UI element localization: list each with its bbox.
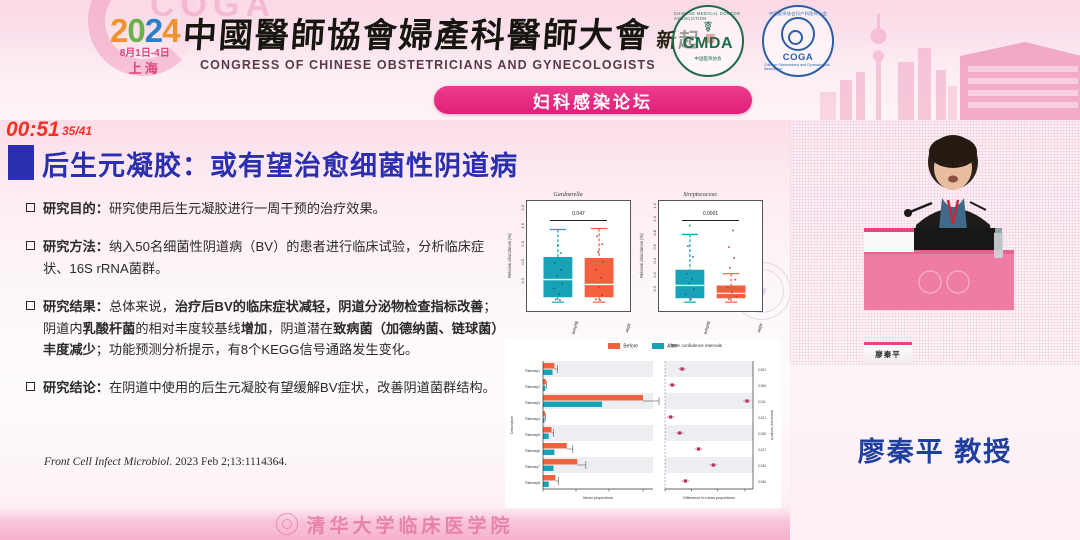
boxplot-gardnerella-pvalue: 0.047 — [572, 211, 585, 217]
boxplot-row: Gardnerella Relative abundance (%) 0.0 0… — [505, 192, 787, 330]
slide-watermark-strip: 清华大学临床医学院 — [0, 508, 790, 540]
bullet-emphasis: 治疗后BV的临床症状减轻，阴道分泌物检查指标改善 — [175, 299, 483, 314]
caduceus-icon: ☤ — [703, 20, 713, 35]
bullet-item: 研究结果：总体来说，治疗后BV的临床症状减轻，阴道分泌物检查指标改善；阴道内乳酸… — [26, 296, 502, 360]
forum-title-banner: 妇科感染论坛 — [434, 86, 752, 114]
elapsed-timer: 00:51 — [6, 120, 60, 142]
kegg-chart-svg: Pathway10.001Pathway20.006Pathway30.011P… — [505, 349, 781, 501]
boxplot-streptococcus-yticks: 0.0 0.2 0.4 0.6 0.8 1.0 1.2 — [646, 200, 658, 312]
bullet-text: ，阴道潜在 — [267, 321, 333, 336]
bullet-square-icon — [26, 203, 35, 212]
svg-text:Difference in mean proportions: Difference in mean proportions — [683, 496, 735, 500]
cmda-ring-text: CHINESE MEDICAL DOCTOR ASSOCIATION — [674, 11, 742, 21]
mother-child-icon — [781, 17, 815, 51]
congress-title-cn: 中國醫師協會婦產科醫師大會 — [181, 16, 652, 56]
citation-details: . 2023 Feb 2;13:1114364. — [169, 456, 287, 468]
boxplot-streptococcus-pbar — [682, 220, 740, 221]
cmda-logo: CHINESE MEDICAL DOCTOR ASSOCIATION ☤ CMD… — [672, 5, 744, 77]
figure-group: Gardnerella Relative abundance (%) 0.0 0… — [505, 192, 787, 534]
slide-title: 后生元凝胶：或有望治愈细菌性阴道病 — [42, 144, 518, 183]
bullet-body: 研究结果：总体来说，治疗后BV的临床症状减轻，阴道分泌物检查指标改善；阴道内乳酸… — [43, 296, 502, 360]
svg-text:0.025: 0.025 — [758, 432, 766, 436]
svg-text:0.011: 0.011 — [758, 400, 766, 404]
cmda-sub: 中国医师协会 — [695, 56, 722, 62]
congress-city: 上海 — [110, 62, 179, 75]
bullet-emphasis: 增加 — [241, 321, 267, 336]
svg-text:Pathway7: Pathway7 — [525, 465, 540, 469]
bullet-text: 纳入50名细菌性阴道病（BV）的患者进行临床试验，分析临床症状、16S rRNA… — [43, 239, 484, 275]
citation-journal: Front Cell Infect Microbiol — [44, 456, 169, 468]
bullet-square-icon — [26, 382, 35, 391]
bullet-text: ；功能预测分析提示，有8个KEGG信号通路发生变化。 — [96, 342, 418, 357]
speaker-photo — [790, 120, 1080, 365]
presentation-slide: 00:51 35/41 后生元凝胶：或有望治愈细菌性阴道病 研究目的：研究使用后… — [0, 120, 790, 540]
boxplot-streptococcus-pvalue: 0.0001 — [703, 211, 718, 217]
bullet-text: 研究使用后生元凝胶进行一周干预的治疗效果。 — [109, 201, 386, 216]
svg-text:Description: Description — [510, 416, 514, 434]
svg-text:Pathway6: Pathway6 — [525, 449, 540, 453]
svg-text:0.027: 0.027 — [758, 448, 766, 452]
svg-text:Mean proportions: Mean proportions — [583, 496, 613, 500]
bullet-label: 研究结果： — [43, 299, 109, 314]
legend-before-swatch — [608, 343, 620, 349]
svg-text:Pathway1: Pathway1 — [525, 369, 540, 373]
speaker-video-feed[interactable]: 廖秦平 — [790, 120, 1080, 365]
congress-header-banner: COGA 2024 8月1日-4日 上海 中國醫師協會婦產科醫師大會新起 CON… — [0, 0, 1080, 120]
boxplot-gardnerella-panel: 0.047 — [526, 200, 631, 312]
boxplot-gardnerella-title: Gardnerella — [505, 192, 631, 198]
bullet-label: 研究结论： — [43, 380, 109, 395]
year-logo: 2024 8月1日-4日 上海 — [110, 14, 179, 75]
kegg-ci-title: 95% confidence intervals — [671, 343, 722, 348]
svg-text:Pathway3: Pathway3 — [525, 401, 540, 405]
bullet-emphasis: 乳酸杆菌 — [83, 321, 136, 336]
boxplot-streptococcus-ylabel: Relative abundance (%) — [637, 200, 646, 312]
boxplot-streptococcus-svg — [659, 201, 762, 311]
kegg-chart-legend: Before After — [505, 340, 781, 349]
congress-title-cn-wrap: 中國醫師協會婦產科醫師大會新起 — [181, 8, 716, 57]
svg-text:0.001: 0.001 — [758, 368, 766, 372]
legend-after-swatch — [652, 343, 664, 349]
podium-nameplate: 廖秦平 — [864, 342, 912, 364]
boxplot-gardnerella: Gardnerella Relative abundance (%) 0.0 0… — [505, 192, 631, 330]
svg-text:q-values (corrected): q-values (corrected) — [770, 410, 774, 440]
year-digits: 2024 — [110, 14, 179, 47]
bullet-text: 在阴道中使用的后生元凝胶有望缓解BV症状，改善阴道菌群结构。 — [109, 380, 496, 395]
boxplot-streptococcus-panel: 0.0001 — [658, 200, 763, 312]
year-digit-3: 2 — [145, 12, 162, 49]
svg-text:0.021: 0.021 — [758, 416, 766, 420]
svg-text:Pathway8: Pathway8 — [525, 481, 540, 485]
year-digit-1: 2 — [110, 12, 127, 49]
title-accent-marker — [8, 145, 34, 180]
coga-abbr: COGA — [783, 52, 814, 63]
bullet-item: 研究结论：在阴道中使用的后生元凝胶有望缓解BV症状，改善阴道菌群结构。 — [26, 377, 502, 398]
year-digit-4: 4 — [162, 12, 179, 49]
boxplot-streptococcus-title: Streptococcus — [637, 192, 763, 198]
svg-text:0.036: 0.036 — [758, 480, 766, 484]
speaker-panel: 廖秦平 廖秦平 教授 — [790, 120, 1080, 540]
bullet-body: 研究目的：研究使用后生元凝胶进行一周干预的治疗效果。 — [43, 198, 386, 219]
bullet-body: 研究结论：在阴道中使用的后生元凝胶有望缓解BV症状，改善阴道菌群结构。 — [43, 377, 496, 398]
congress-dates: 8月1日-4日 — [110, 49, 179, 59]
bullet-body: 研究方法：纳入50名细菌性阴道病（BV）的患者进行临床试验，分析临床症状、16S… — [43, 236, 502, 279]
slide-bullet-list: 研究目的：研究使用后生元凝胶进行一周干预的治疗效果。研究方法：纳入50名细菌性阴… — [26, 198, 502, 416]
bullet-square-icon — [26, 241, 35, 250]
svg-text:Pathway2: Pathway2 — [525, 385, 540, 389]
boxplot-gardnerella-pbar — [550, 220, 608, 221]
boxplot-gardnerella-xlabels: Before After — [526, 313, 631, 330]
bullet-label: 研究目的： — [43, 201, 109, 216]
bullet-label: 研究方法： — [43, 239, 109, 254]
tsinghua-seal-icon — [276, 513, 298, 535]
bullet-item: 研究目的：研究使用后生元凝胶进行一周干预的治疗效果。 — [26, 198, 502, 219]
boxplot-gardnerella-svg — [527, 201, 630, 311]
boxplot-streptococcus: Streptococcus Relative abundance (%) 0.0… — [637, 192, 763, 330]
svg-text:Pathway5: Pathway5 — [525, 433, 540, 437]
slide-counter: 35/41 — [62, 124, 92, 138]
boxplot-gardnerella-ylabel: Relative abundance (%) — [505, 200, 514, 312]
shanghai-skyline-graphic — [820, 0, 1080, 120]
speaker-name: 廖秦平 教授 — [790, 430, 1080, 469]
bullet-text: 总体来说， — [109, 299, 175, 314]
svg-text:0.033: 0.033 — [758, 464, 766, 468]
slide-watermark-text: 清华大学临床医学院 — [306, 511, 513, 538]
boxplot-streptococcus-xlabels: Before After — [658, 313, 763, 330]
bullet-item: 研究方法：纳入50名细菌性阴道病（BV）的患者进行临床试验，分析临床症状、16S… — [26, 236, 502, 279]
bullet-text: 的相对丰度较基线 — [135, 321, 241, 336]
citation: Front Cell Infect Microbiol. 2023 Feb 2;… — [44, 456, 287, 468]
bullet-square-icon — [26, 301, 35, 310]
svg-text:0.006: 0.006 — [758, 384, 766, 388]
year-digit-2: 0 — [127, 12, 144, 49]
svg-text:Pathway4: Pathway4 — [525, 417, 540, 421]
cmda-abbr: CMDA — [683, 35, 733, 53]
congress-title-en: CONGRESS OF CHINESE OBSTETRICIANS AND GY… — [200, 58, 656, 72]
kegg-pathway-chart: Before After 95% confidence intervals Pa… — [505, 340, 781, 508]
boxplot-gardnerella-yticks: 0.0 0.5 1.0 1.5 2.0 — [514, 200, 526, 312]
